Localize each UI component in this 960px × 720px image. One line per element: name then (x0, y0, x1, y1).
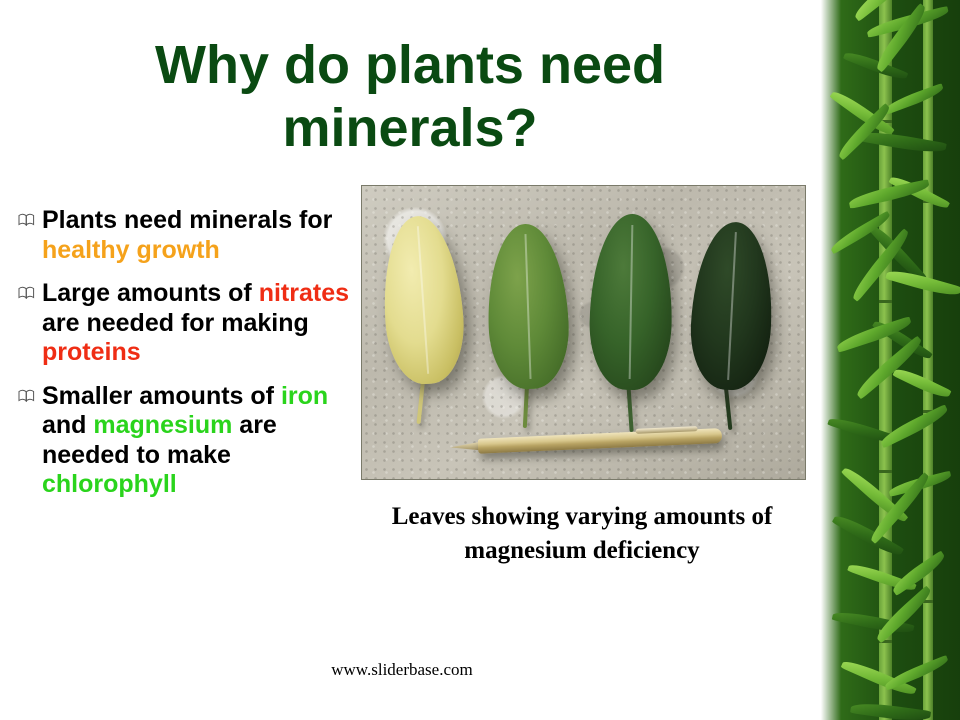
bullet-list: Plants need minerals for healthy growth … (18, 206, 363, 514)
bullet-text-2: Large amounts of nitrates are needed for… (42, 279, 363, 368)
bullet-1-seg-0: Plants need minerals for (42, 206, 332, 234)
page-title: Why do plants need minerals? (40, 34, 780, 160)
bullet-text-1: Plants need minerals for healthy growth (42, 206, 363, 265)
image-caption: Leaves showing varying amounts of magnes… (372, 500, 792, 568)
bamboo-cane (923, 0, 933, 720)
bullet-text-3: Smaller amounts of iron and magnesium ar… (42, 382, 363, 500)
list-item: Smaller amounts of iron and magnesium ar… (18, 382, 363, 500)
bullet-2-seg-2: are needed for making (42, 309, 309, 337)
bullet-1-seg-1: healthy growth (42, 236, 220, 264)
bullet-2-seg-3: proteins (42, 338, 141, 366)
bullet-3-seg-5: chlorophyll (42, 470, 177, 498)
bullet-2-seg-1: nitrates (259, 279, 349, 307)
footer-source: www.sliderbase.com (252, 660, 552, 680)
list-item: Large amounts of nitrates are needed for… (18, 279, 363, 368)
book-icon (18, 382, 42, 406)
book-icon (18, 206, 42, 230)
bullet-2-seg-0: Large amounts of (42, 279, 259, 307)
leaf-photo (361, 185, 806, 480)
bullet-3-seg-3: magnesium (93, 411, 232, 439)
bullet-3-seg-2: and (42, 411, 93, 439)
slide: Why do plants need minerals? Plants need… (0, 0, 960, 720)
book-icon (18, 279, 42, 303)
bullet-3-seg-1: iron (281, 382, 328, 410)
bullet-3-seg-0: Smaller amounts of (42, 382, 281, 410)
list-item: Plants need minerals for healthy growth (18, 206, 363, 265)
bamboo-border (815, 0, 960, 720)
